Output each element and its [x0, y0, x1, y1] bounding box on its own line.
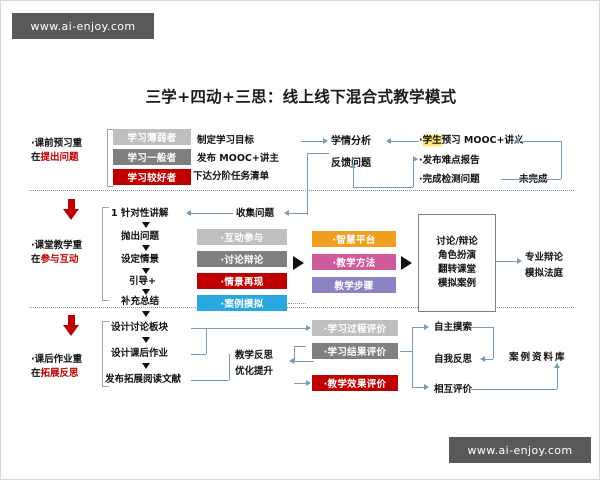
- in-class-steps-bracket: [102, 207, 109, 301]
- learner-levels-bracket: [107, 129, 114, 187]
- connector-feedback-down-top: [307, 153, 329, 154]
- activity-case-simulation-label: ·案例摸拟: [220, 296, 263, 310]
- learner-level-good-label: 学习较好者: [127, 170, 176, 184]
- arrow-activities-to-methods: [293, 256, 304, 270]
- activity-interaction-label: ·互动参与: [220, 230, 263, 244]
- student-task-1: ·学生预习 MOOC+讲义: [419, 134, 523, 147]
- connector-step2-h: [191, 354, 206, 355]
- teaching-form-4: 模拟案例: [438, 277, 476, 291]
- connector-incomplete-top: [519, 141, 561, 142]
- row-arrow-2-stem: [68, 199, 75, 209]
- arrow-step1-to-eval1: [306, 325, 311, 331]
- connector-student-to-analysis: [391, 141, 419, 142]
- connector-feedback-to-collect: [289, 213, 307, 214]
- row-label-in-class-line1: ·课堂教学重: [31, 239, 82, 253]
- evaluation-effect-label: ·教学效果评价: [324, 376, 387, 390]
- connector-branch-to-review1: [412, 327, 424, 328]
- after-step-arrow-2: [142, 363, 150, 369]
- arrow-student-to-analysis: [386, 138, 391, 144]
- student-task-3-rest: 完成检测问题: [423, 174, 480, 185]
- review-1: 自主摸索: [434, 321, 472, 334]
- row-arrow-3-stem: [68, 315, 75, 325]
- row-label-after-class-emphasis: 拓展反思: [41, 368, 79, 379]
- activity-debate-label: ·讨论辩论: [220, 252, 263, 266]
- learner-level-average-label: 学习一般者: [127, 150, 176, 164]
- activity-case-simulation[interactable]: ·案例摸拟: [197, 295, 287, 311]
- evaluation-process[interactable]: ·学习过程评价: [312, 320, 398, 336]
- learner-level-average[interactable]: 学习一般者: [113, 149, 191, 165]
- outcome-2: 模拟法庭: [525, 267, 563, 280]
- after-class-step-2: 设计课后作业: [111, 347, 168, 360]
- connector-review3-to-library: [471, 389, 557, 390]
- after-step-arrow-0: [142, 311, 150, 317]
- review-3: 相互评价: [434, 383, 472, 396]
- step-arrow-3: [142, 268, 150, 274]
- teacher-task-1: 制定学习目标: [197, 134, 254, 147]
- row-label-in-class-prefix: 在: [31, 254, 41, 265]
- connector-reflection-h: [294, 346, 306, 347]
- in-class-step-3: 设定情景: [121, 253, 159, 266]
- teacher-task-3: 下达分阶任务清单: [193, 170, 269, 183]
- arrow-feedback-to-student: [413, 156, 418, 162]
- row-label-pre-class: ·课前预习重 在提出问题: [31, 137, 82, 165]
- student-task-2: ·发布难点报告: [419, 154, 480, 167]
- connector-step3-v: [229, 354, 230, 380]
- method-teaching-method-label: ·教学方法: [332, 255, 375, 269]
- learner-level-good[interactable]: 学习较好者: [113, 169, 191, 185]
- reflection-line2: 优化提升: [235, 365, 273, 378]
- analysis-label: 学情分析: [331, 135, 371, 148]
- activity-debate[interactable]: ·讨论辩论: [197, 251, 287, 267]
- diagram-title: 三学+四动+三思：线上线下混合式教学模式: [1, 85, 600, 107]
- watermark-bottom: www.ai-enjoy.com: [449, 437, 591, 463]
- evaluation-process-label: ·学习过程评价: [324, 321, 387, 335]
- teaching-form-2: 角色扮演: [438, 249, 476, 263]
- arrow-tasks-to-analysis: [323, 138, 328, 144]
- row-label-after-class-line2: 在拓展反思: [31, 367, 82, 381]
- row-label-after-class-line1: ·课后作业重: [31, 353, 82, 367]
- connector-branch-to-review3: [412, 387, 424, 388]
- connector-feedback-h: [353, 187, 413, 188]
- teacher-task-2: 发布 MOOC+讲主: [197, 152, 279, 165]
- method-smart-platform-label: ·智慧平台: [332, 232, 375, 246]
- row-label-pre-class-emphasis: 提出问题: [41, 152, 79, 163]
- student-task-2-rest: 发布难点报告: [423, 155, 480, 166]
- teaching-form-1: 讨论/辩论: [436, 235, 477, 249]
- after-class-step-3: 发布拓展阅读文献: [105, 373, 181, 386]
- connector-review1-h: [471, 327, 493, 328]
- connector-step3-h: [191, 380, 229, 381]
- in-class-step-5: 补充总结: [121, 295, 159, 308]
- connector-incomplete-v: [561, 141, 562, 179]
- connector-case-sim-out: [288, 303, 306, 304]
- watermark-top: www.ai-enjoy.com: [12, 13, 154, 39]
- activity-scenario[interactable]: ·情景再现: [197, 273, 287, 289]
- method-smart-platform[interactable]: ·智慧平台: [312, 231, 396, 247]
- row-label-after-class: ·课后作业重 在拓展反思: [31, 353, 82, 381]
- activity-interaction[interactable]: ·互动参与: [197, 229, 287, 245]
- review-2: 自我反思: [434, 353, 472, 366]
- connector-eval-branch-v: [412, 327, 413, 387]
- connector-incomplete-h: [501, 179, 561, 180]
- row-label-pre-class-prefix: 在: [31, 152, 41, 163]
- in-class-step-2: 抛出问题: [121, 230, 159, 243]
- row-arrow-3-head: [63, 325, 79, 336]
- row-label-pre-class-line1: ·课前预习重: [31, 137, 82, 151]
- method-teaching-steps[interactable]: 教学步骤: [312, 277, 396, 293]
- after-class-step-1: 设计讨论板块: [111, 321, 168, 334]
- row-label-in-class-line2: 在参与互动: [31, 253, 82, 267]
- arrow-methods-to-forms: [401, 256, 412, 270]
- reflection-line1: 教学反思: [235, 349, 273, 362]
- row-label-after-class-prefix: 在: [31, 368, 41, 379]
- collect-questions-label: 收集问题: [236, 207, 274, 220]
- student-task-1-highlight: 学生: [423, 135, 442, 146]
- step-arrow-1: [142, 222, 150, 228]
- in-class-step-4: 引导+: [129, 275, 156, 288]
- learner-level-weak[interactable]: 学习薄弱者: [113, 129, 191, 145]
- outcome-1: 专业辩论: [525, 251, 563, 264]
- arrow-branch-to-review1: [424, 324, 429, 330]
- after-step-arrow-1: [142, 337, 150, 343]
- row-label-in-class-emphasis: 参与互动: [41, 254, 79, 265]
- connector-review1-to-review2: [493, 327, 494, 359]
- connector-forms-to-outcomes: [495, 261, 517, 262]
- in-class-step-1: 1 针对性讲解: [111, 207, 168, 220]
- evaluation-result-label: ·学习结果评价: [324, 344, 387, 358]
- row-label-in-class: ·课堂教学重 在参与互动: [31, 239, 82, 267]
- row-separator-1: [29, 190, 574, 191]
- student-task-1-rest: 预习 MOOC+讲义: [442, 135, 524, 146]
- teaching-forms-box: 讨论/辩论 角色扮演 翻转课堂 模拟案例: [418, 214, 496, 312]
- connector-collect-to-step1: [191, 213, 233, 214]
- connector-reflection-to-eval3: [294, 383, 306, 384]
- connector-tasks-to-analysis: [301, 141, 323, 142]
- arrow-collect-to-step1: [186, 210, 191, 216]
- student-task-3: ·完成检测问题: [419, 173, 480, 186]
- method-teaching-steps-label: 教学步骤: [334, 278, 373, 292]
- arrow-feedback-up: [350, 163, 356, 168]
- connector-step1-v: [206, 328, 207, 354]
- connector-eval2-h: [400, 351, 412, 352]
- connector-eval-to-reflection: [294, 361, 314, 362]
- arrow-feedback-to-collect: [284, 210, 289, 216]
- connector-feedback-down: [307, 153, 308, 215]
- row-arrow-2-head: [63, 209, 79, 220]
- teaching-form-3: 翻转课堂: [438, 263, 476, 277]
- connector-reflection-v: [294, 346, 295, 361]
- arrow-forms-to-outcomes: [517, 258, 522, 264]
- connector-library-v: [557, 367, 558, 389]
- connector-feedback-v: [353, 167, 354, 187]
- activity-scenario-label: ·情景再现: [220, 274, 263, 288]
- arrow-to-library: [554, 363, 560, 368]
- arrow-to-review2: [480, 356, 485, 362]
- learner-level-weak-label: 学习薄弱者: [127, 130, 176, 144]
- method-teaching-method[interactable]: ·教学方法: [312, 254, 396, 270]
- evaluation-result[interactable]: ·学习结果评价: [312, 343, 398, 359]
- connector-feedback-v2: [413, 159, 414, 187]
- watermark-bottom-text: www.ai-enjoy.com: [467, 444, 572, 457]
- row-label-pre-class-line2: 在提出问题: [31, 151, 82, 165]
- connector-review2-h: [485, 359, 493, 360]
- step-arrow-2: [142, 245, 150, 251]
- arrow-branch-to-review3: [424, 384, 429, 390]
- watermark-top-text: www.ai-enjoy.com: [30, 20, 135, 33]
- connector-step1-to-eval1: [191, 328, 306, 329]
- arrow-reflection-to-eval3: [306, 380, 311, 386]
- evaluation-effect[interactable]: ·教学效果评价: [312, 375, 398, 391]
- arrow-incomplete-return: [514, 138, 519, 144]
